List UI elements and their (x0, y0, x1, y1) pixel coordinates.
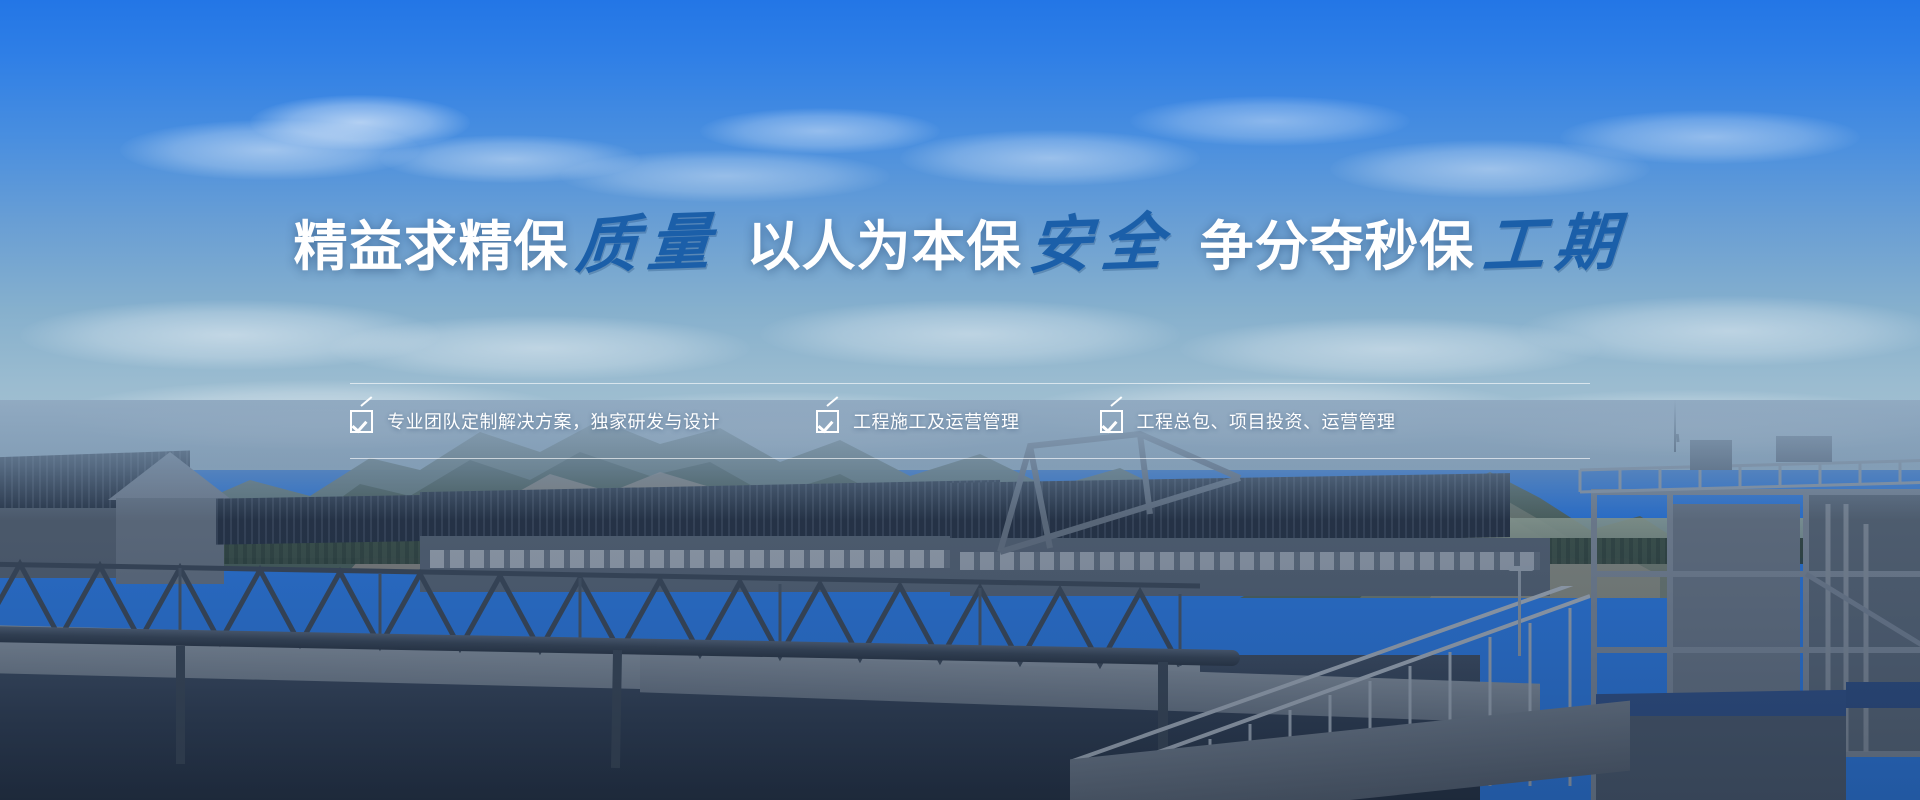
checkbox-checked-icon (350, 410, 373, 433)
cloud-puff (1330, 140, 1650, 198)
headline-phrase-1: 精益求精保 质量 (293, 213, 720, 275)
pipe-support-column (176, 646, 185, 764)
scene-photograph (0, 400, 1920, 800)
headline-plain-2: 以人为本保 (746, 220, 1021, 274)
feature-label-2: 工程施工及运营管理 (853, 408, 1020, 434)
cloud-puff (560, 150, 890, 202)
street-lamp-head (1508, 566, 1534, 571)
feature-item-2[interactable]: 工程施工及运营管理 (816, 408, 1020, 434)
cloud-puff (700, 108, 940, 154)
cloud-puff (1560, 110, 1860, 164)
feature-list: 专业团队定制解决方案，独家研发与设计 工程施工及运营管理 工程总包、项目投资、运… (350, 384, 1590, 458)
street-lamp (1518, 570, 1521, 656)
headline-plain-1: 精益求精保 (293, 220, 568, 274)
hero-banner: 精益求精保 质量 以人为本保 安全 争分夺秒保 工期 专业团队定制解决方案，独家… (0, 0, 1920, 800)
headline-accent-2: 安全 (1027, 211, 1176, 278)
cloud-puff (1130, 96, 1410, 146)
building-gable (108, 452, 232, 500)
cloud-puff (380, 135, 640, 183)
cloud-puff (760, 300, 1180, 368)
headline-accent-3: 工期 (1480, 211, 1629, 278)
cloud-puff (330, 316, 750, 380)
checkbox-checked-icon (1100, 410, 1123, 433)
feature-bar: 专业团队定制解决方案，独家研发与设计 工程施工及运营管理 工程总包、项目投资、运… (350, 383, 1590, 459)
divider-bottom (350, 458, 1590, 459)
cloud-puff (120, 120, 420, 180)
feature-item-3[interactable]: 工程总包、项目投资、运营管理 (1100, 408, 1396, 434)
checkbox-checked-icon (816, 410, 839, 433)
cloud-puff (1180, 318, 1600, 380)
cloud-puff (250, 95, 470, 150)
feature-item-1[interactable]: 专业团队定制解决方案，独家研发与设计 (350, 408, 720, 434)
shed-roof-blue-far (1846, 682, 1920, 708)
headline-phrase-2: 以人为本保 安全 (746, 213, 1173, 275)
headline: 精益求精保 质量 以人为本保 安全 争分夺秒保 工期 (0, 196, 1920, 292)
shed-wall (1596, 716, 1846, 800)
cloud-puff (900, 130, 1200, 186)
feature-label-1: 专业团队定制解决方案，独家研发与设计 (387, 408, 720, 434)
headline-phrase-3: 争分夺秒保 工期 (1200, 213, 1627, 275)
feature-label-3: 工程总包、项目投资、运营管理 (1137, 408, 1396, 434)
headline-accent-1: 质量 (574, 211, 723, 278)
cloud-puff (1520, 296, 1920, 366)
headline-plain-3: 争分夺秒保 (1200, 220, 1475, 274)
cloud-puff (20, 300, 440, 370)
antenna-mast (1674, 400, 1676, 452)
